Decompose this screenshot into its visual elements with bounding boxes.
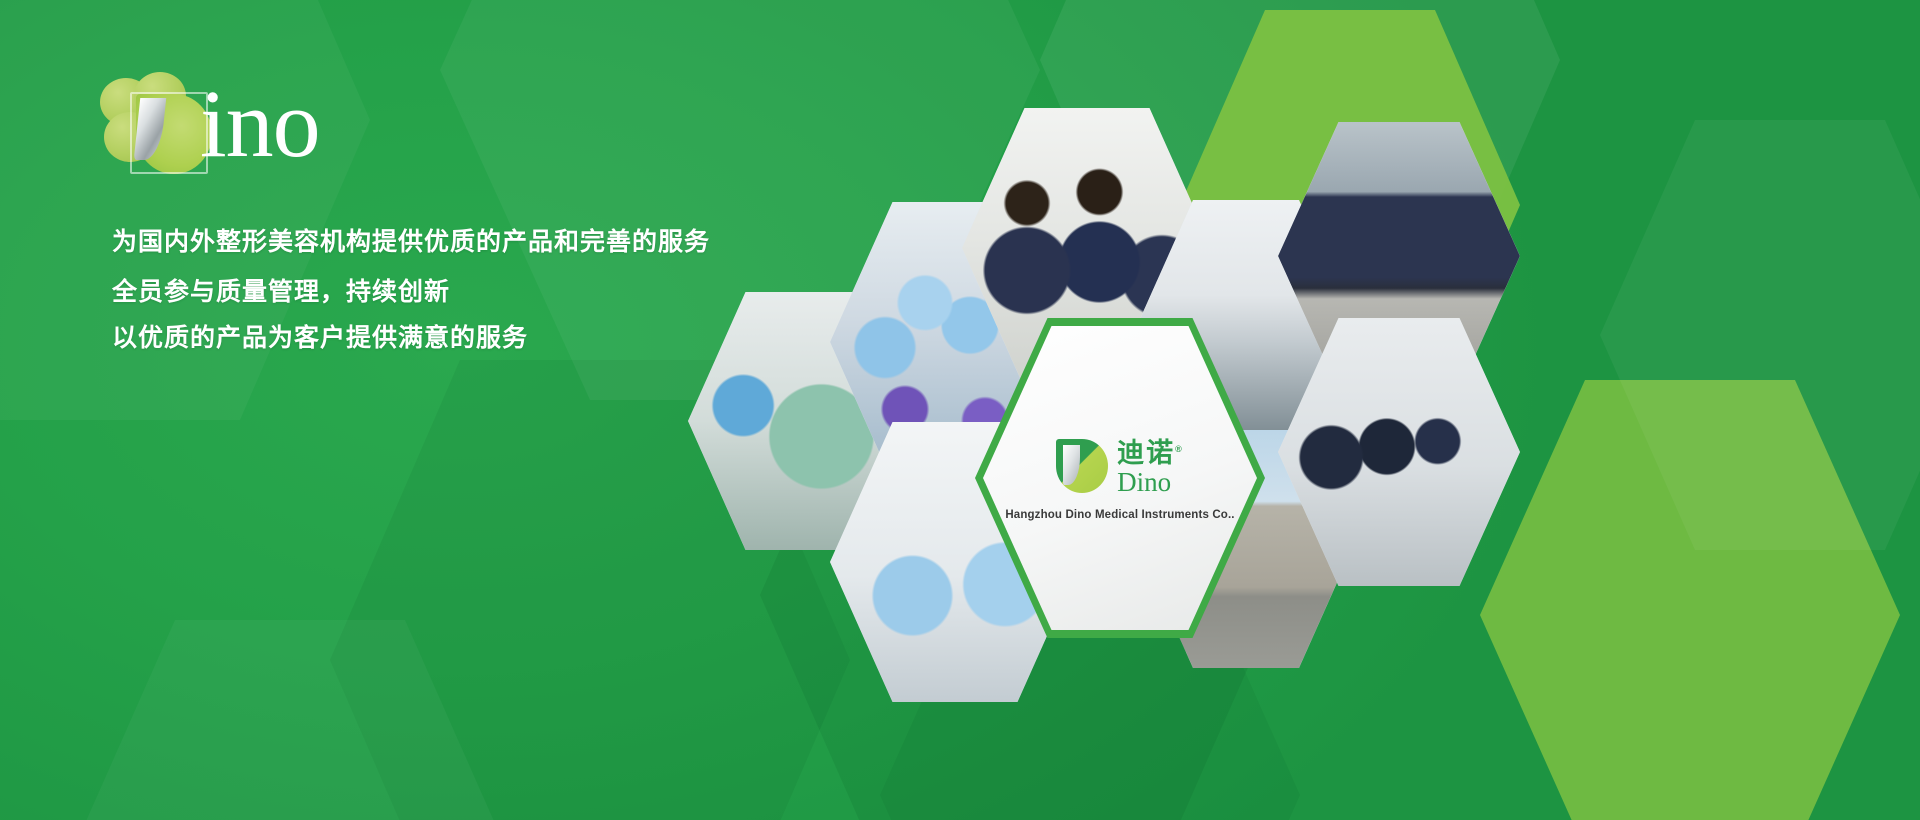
tagline-line-3: 以优质的产品为客户提供满意的服务 [112,318,528,354]
card-leaf-icon [1056,439,1108,493]
tagline-line-2: 全员参与质量管理，持续创新 [112,272,450,308]
company-hero-banner: ino 为国内外整形美容机构提供优质的产品和完善的服务 全员参与质量管理，持续创… [0,0,1920,820]
tagline-line-1: 为国内外整形美容机构提供优质的产品和完善的服务 [112,222,710,258]
logo-card-face: 迪诺® Dino Hangzhou Dino Medical Instrumen… [983,326,1257,630]
dino-logo: ino [96,70,396,175]
logo-card-chinese-name: 迪诺® [1117,435,1184,467]
logo-d-frame-icon [130,92,208,174]
logo-card-company-name: Hangzhou Dino Medical Instruments Co.. [1005,509,1234,521]
registered-mark-icon: ® [1175,444,1184,454]
logo-card-text: 迪诺® Dino [1117,435,1184,496]
logo-card-mark: 迪诺® Dino [1056,435,1184,496]
logo-card-english-name: Dino [1117,468,1171,496]
hexagon-photo-collage: 迪诺® Dino Hangzhou Dino Medical Instrumen… [640,0,1920,820]
logo-card-chinese-name-text: 迪诺 [1117,438,1175,468]
logo-wordmark: ino [200,76,320,172]
